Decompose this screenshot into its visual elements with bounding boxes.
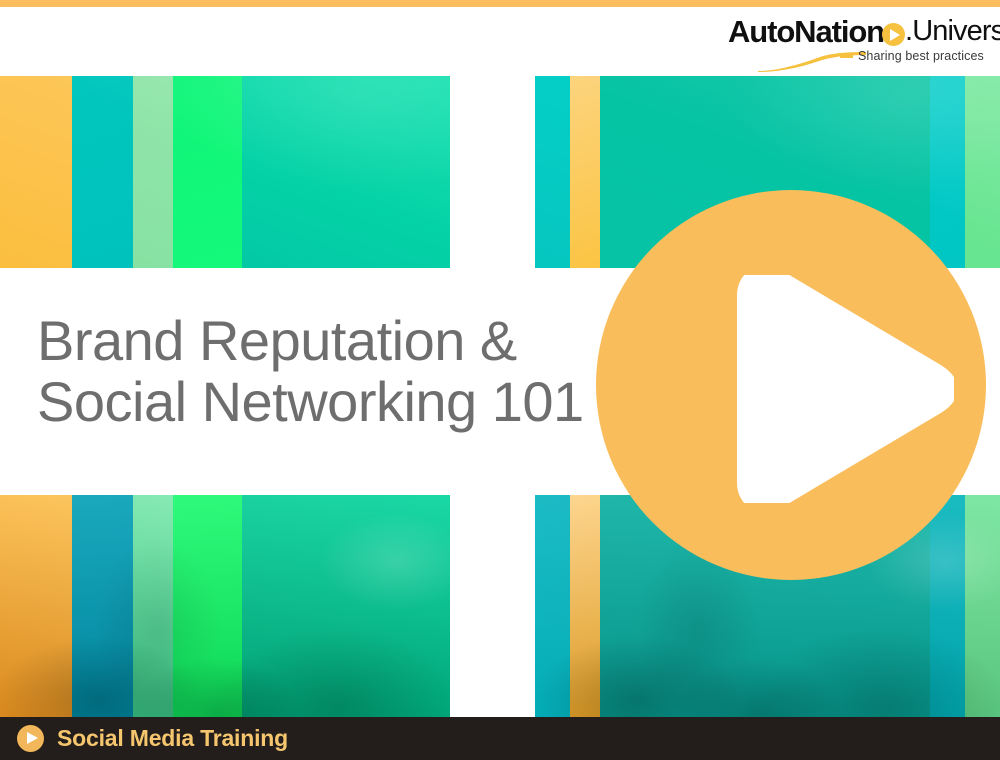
title-line-2: Social Networking 101 — [37, 371, 597, 432]
color-stripe — [570, 495, 600, 717]
top-accent-bar — [0, 0, 1000, 7]
color-stripe — [173, 76, 242, 268]
color-stripe — [930, 76, 965, 268]
color-stripe — [242, 76, 450, 268]
footer-bar: Social Media Training — [0, 717, 1000, 760]
image-panel-top-left — [0, 76, 450, 268]
color-stripe — [0, 495, 72, 717]
color-stripe — [133, 495, 173, 717]
color-stripe — [72, 76, 133, 268]
color-stripe — [173, 495, 242, 717]
footer-course-label: Social Media Training — [57, 725, 288, 752]
color-stripe — [133, 76, 173, 268]
footer-play-icon[interactable] — [17, 725, 44, 752]
color-stripe — [965, 495, 1000, 717]
logo-brand-text: AutoNation — [728, 16, 884, 47]
logo-play-icon — [882, 23, 905, 46]
color-stripe — [0, 76, 72, 268]
color-stripe — [535, 495, 570, 717]
logo-wordmark: AutoNation .University — [728, 16, 1000, 47]
play-video-button[interactable] — [596, 190, 986, 580]
slide-header: AutoNation .University Sharing best prac… — [0, 7, 1000, 76]
logo-suffix-text: .University — [905, 17, 1000, 46]
logo-tagline-text: Sharing best practices — [858, 49, 984, 63]
color-stripe — [72, 495, 133, 717]
color-stripe — [570, 76, 600, 268]
play-icon — [724, 275, 954, 503]
color-stripe — [930, 495, 965, 717]
slide-title: Brand Reputation & Social Networking 101 — [37, 310, 597, 432]
title-line-1: Brand Reputation & — [37, 310, 597, 371]
slide-canvas: AutoNation .University Sharing best prac… — [0, 0, 1000, 760]
autonation-university-logo: AutoNation .University Sharing best prac… — [728, 16, 1000, 72]
color-stripe — [535, 76, 570, 268]
color-stripe — [965, 76, 1000, 268]
tagline-dash-icon — [840, 54, 853, 58]
image-panel-bottom-left — [0, 495, 450, 717]
color-stripe — [242, 495, 450, 717]
logo-tagline-row: Sharing best practices — [840, 49, 984, 63]
